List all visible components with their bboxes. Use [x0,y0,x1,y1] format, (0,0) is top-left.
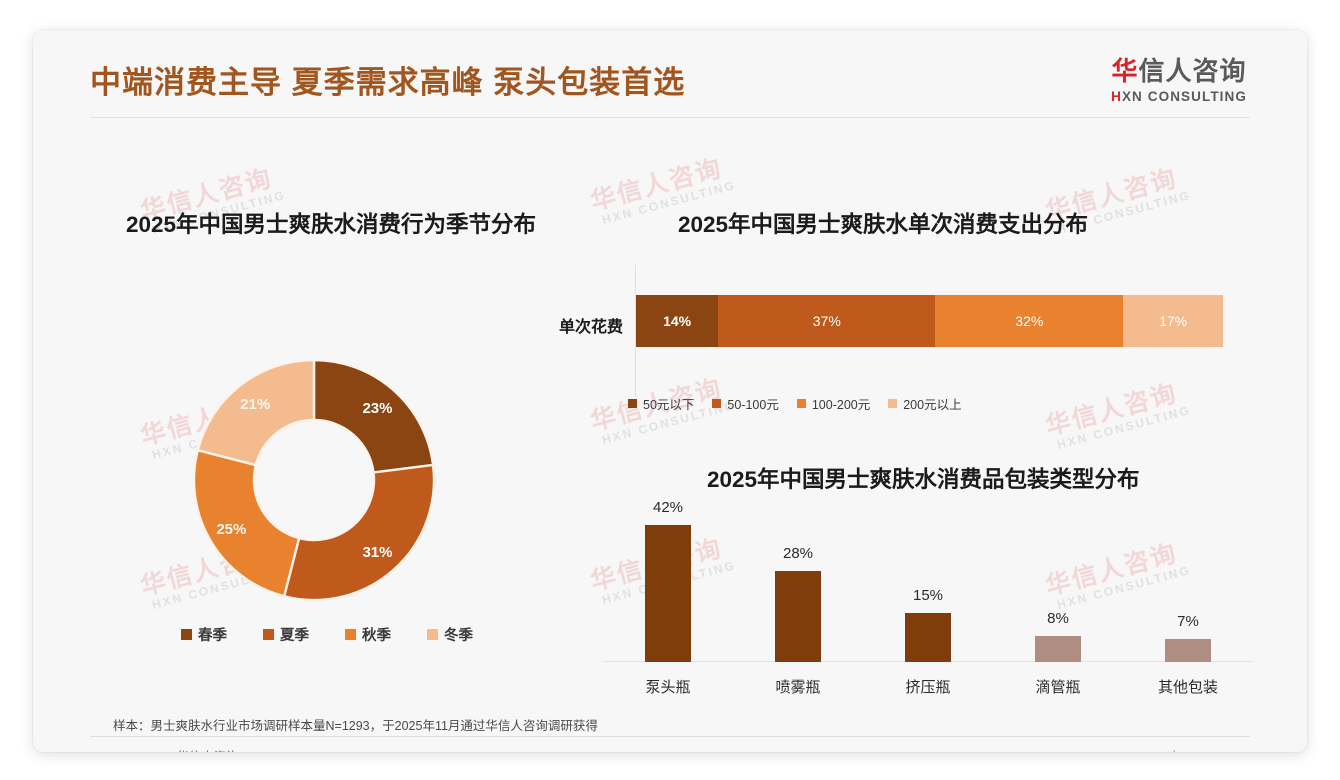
legend-swatch-icon [797,399,806,408]
bar-column-其他包装[interactable]: 7%其他包装 [1165,639,1211,662]
bar-column-滴管瓶[interactable]: 8%滴管瓶 [1035,636,1081,662]
legend-swatch-icon [181,629,192,640]
page-title: 中端消费主导 夏季需求高峰 泵头包装首选 [90,57,685,102]
copyright-text: ©2026.1 HXR华信人咨询 [99,746,239,752]
stacked-category-label: 单次花费 [523,313,623,337]
logo-en-accent: H [1111,89,1122,104]
bar-value-label: 7% [1177,613,1199,630]
bar-category-label: 滴管瓶 [1035,676,1080,697]
packaging-chart-title: 2025年中国男士爽肤水消费品包装类型分布 [707,462,1140,494]
bar-category-label: 其他包装 [1158,676,1218,697]
donut-slice-label: 23% [362,400,392,417]
legend-label: 50-100元 [727,394,778,413]
stacked-segment-50-100元[interactable]: 37% [718,295,935,347]
legend-label: 秋季 [362,624,391,645]
legend-swatch-icon [345,629,356,640]
season-donut-chart: 23%31%25%21% [153,320,483,640]
bar-rect[interactable] [1035,636,1081,662]
legend-swatch-icon [888,399,897,408]
donut-slice-夏季[interactable] [284,465,434,600]
bar-rect[interactable] [645,525,691,662]
logo-rest-chars: 信人咨询 [1139,56,1247,86]
legend-item-50-100元[interactable]: 50-100元 [712,394,778,413]
donut-slice-label: 31% [362,544,392,561]
legend-label: 夏季 [280,624,309,645]
legend-label: 200元以上 [903,394,961,413]
donut-chart-title: 2025年中国男士爽肤水消费行为季节分布 [126,207,536,239]
bar-value-label: 15% [913,587,943,604]
stacked-chart-title: 2025年中国男士爽肤水单次消费支出分布 [678,207,1088,239]
sample-note: 样本：男士爽肤水行业市场调研样本量N=1293，于2025年11月通过华信人咨询… [113,715,598,734]
legend-item-夏季[interactable]: 夏季 [263,624,309,645]
donut-slice-秋季[interactable] [194,450,299,596]
legend-label: 50元以下 [643,394,694,413]
donut-svg: 23%31%25%21% [153,320,483,640]
stacked-legend: 50元以下50-100元100-200元200元以上 [628,394,962,413]
legend-item-秋季[interactable]: 秋季 [345,624,391,645]
donut-slice-label: 25% [216,521,246,538]
bar-category-label: 泵头瓶 [645,676,690,697]
legend-label: 冬季 [444,624,473,645]
bar-column-挤压瓶[interactable]: 15%挤压瓶 [905,613,951,662]
stacked-segment-100-200元[interactable]: 32% [935,295,1123,347]
legend-item-春季[interactable]: 春季 [181,624,227,645]
legend-swatch-icon [427,629,438,640]
bar-rect[interactable] [1165,639,1211,662]
stacked-bar-track: 14%37%32%17% [636,295,1223,347]
donut-legend: 春季夏季秋季冬季 [181,624,473,645]
brand-logo: 华信人咨询 HXN CONSULTING [1111,58,1247,104]
website-text: www.hxrcon.com [1144,748,1235,752]
bar-value-label: 8% [1047,610,1069,627]
logo-english: HXN CONSULTING [1111,89,1247,104]
bar-column-泵头瓶[interactable]: 42%泵头瓶 [645,525,691,662]
bar-value-label: 28% [783,545,813,562]
bar-rect[interactable] [905,613,951,662]
legend-item-50元以下[interactable]: 50元以下 [628,394,694,413]
footer-divider [90,736,1250,737]
legend-swatch-icon [712,399,721,408]
bar-rect[interactable] [775,571,821,662]
packaging-bar-chart: 42%泵头瓶28%喷雾瓶15%挤压瓶8%滴管瓶7%其他包装 [603,500,1253,700]
logo-chinese: 华信人咨询 [1111,58,1247,85]
bar-value-label: 42% [653,499,683,516]
slide-card: 华信人咨询HXN CONSULTING华信人咨询HXN CONSULTING华信… [33,30,1307,752]
legend-swatch-icon [263,629,274,640]
legend-label: 100-200元 [812,394,870,413]
bar-category-label: 喷雾瓶 [775,676,820,697]
slide-header: 中端消费主导 夏季需求高峰 泵头包装首选 华信人咨询 HXN CONSULTIN… [33,30,1307,116]
stacked-segment-200元以上[interactable]: 17% [1123,295,1223,347]
donut-slice-label: 21% [240,396,270,413]
logo-accent-char: 华 [1112,56,1139,86]
legend-swatch-icon [628,399,637,408]
legend-label: 春季 [198,624,227,645]
stacked-segment-50元以下[interactable]: 14% [636,295,718,347]
watermark-cn: 华信人咨询 [588,153,734,216]
legend-item-冬季[interactable]: 冬季 [427,624,473,645]
bar-column-喷雾瓶[interactable]: 28%喷雾瓶 [775,571,821,662]
logo-en-rest: XN CONSULTING [1122,89,1247,104]
bar-category-label: 挤压瓶 [905,676,950,697]
legend-item-200元以上[interactable]: 200元以上 [888,394,961,413]
legend-item-100-200元[interactable]: 100-200元 [797,394,870,413]
header-divider [90,117,1250,118]
